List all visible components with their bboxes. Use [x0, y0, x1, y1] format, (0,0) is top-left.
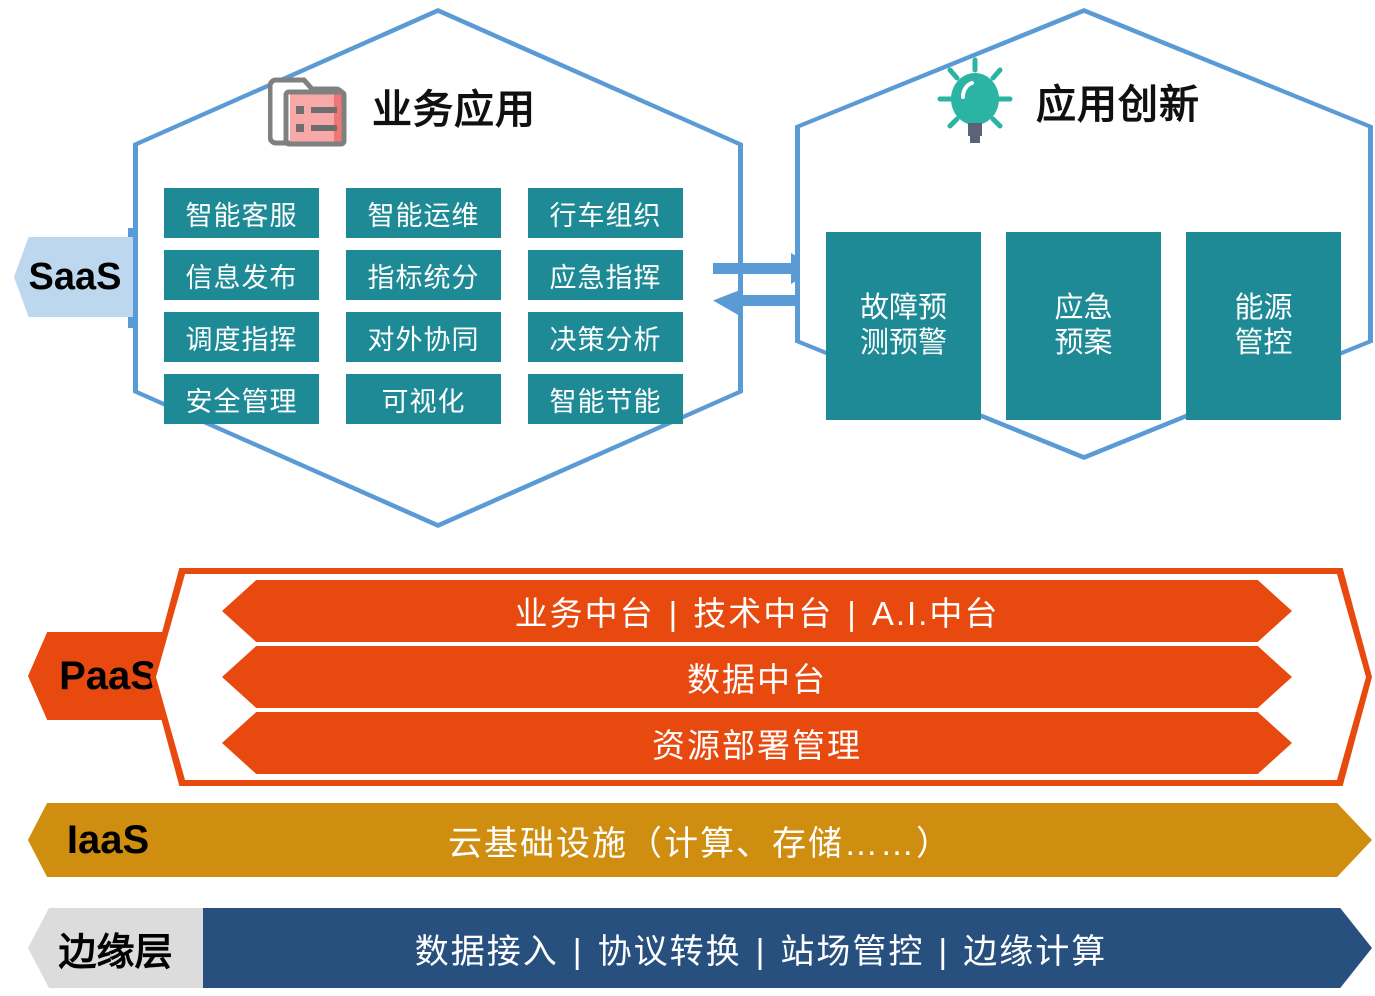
app-tag[interactable]: 智能运维	[346, 188, 501, 238]
app-tag[interactable]: 可视化	[346, 374, 501, 424]
innovation-box-label: 故障预 测预警	[860, 291, 947, 362]
architecture-diagram: SaaS 业务应用 智能客服 智能运维 行车组织 信息发布 指标统分 应急指挥	[0, 0, 1375, 996]
app-tag[interactable]: 信息发布	[164, 250, 319, 300]
app-tag[interactable]: 调度指挥	[164, 312, 319, 362]
edge-side-label: 边缘层	[28, 908, 203, 988]
innovation-box[interactable]: 应急 预案	[1006, 232, 1161, 420]
folder-list-icon	[268, 62, 354, 150]
innovation-box-label: 能源 管控	[1234, 291, 1292, 362]
saas-side-label-text: SaaS	[29, 256, 122, 299]
edge-segment: 站场管控	[780, 933, 924, 971]
paas-row-label: 数据中台	[687, 653, 827, 701]
lightbulb-icon	[932, 55, 1018, 147]
saas-side-label: SaaS	[14, 237, 136, 317]
edge-side-label-text: 边缘层	[58, 921, 172, 976]
paas-side-label-text: PaaS	[59, 654, 157, 699]
edge-bar-label: 数据接入|协议转换|站场管控|边缘计算	[415, 924, 1108, 973]
app-tag[interactable]: 智能节能	[528, 374, 683, 424]
innovation-box-label: 应急 预案	[1054, 291, 1112, 362]
business-application-header: 业务应用	[268, 62, 536, 150]
paas-segment: A.I.中台	[872, 595, 1000, 632]
innovation-box[interactable]: 能源 管控	[1186, 232, 1341, 420]
edge-bar[interactable]: 数据接入|协议转换|站场管控|边缘计算	[150, 908, 1372, 988]
app-tag[interactable]: 智能客服	[164, 188, 319, 238]
business-application-tag-grid: 智能客服 智能运维 行车组织 信息发布 指标统分 应急指挥 调度指挥 对外协同 …	[164, 188, 683, 424]
paas-separator: |	[655, 595, 694, 632]
app-tag[interactable]: 指标统分	[346, 250, 501, 300]
innovation-box-row: 故障预 测预警 应急 预案 能源 管控	[826, 232, 1341, 420]
app-tag[interactable]: 对外协同	[346, 312, 501, 362]
iaas-bar[interactable]: 云基础设施（计算、存储……）	[28, 803, 1372, 877]
application-innovation-header: 应用创新	[932, 55, 1200, 147]
paas-segment: 技术中台	[693, 595, 833, 632]
application-innovation-title: 应用创新	[1036, 72, 1200, 130]
edge-segment: 边缘计算	[963, 933, 1107, 971]
app-tag[interactable]: 决策分析	[528, 312, 683, 362]
iaas-side-label-overlay: IaaS	[28, 803, 188, 877]
iaas-bar-label: 云基础设施（计算、存储……）	[448, 816, 952, 865]
paas-row-label: 业务中台|技术中台|A.I.中台	[515, 587, 1000, 635]
paas-row-label: 资源部署管理	[652, 719, 862, 767]
edge-separator: |	[742, 933, 781, 971]
paas-separator: |	[833, 595, 872, 632]
app-tag[interactable]: 应急指挥	[528, 250, 683, 300]
edge-separator: |	[559, 933, 598, 971]
iaas-side-label-text: IaaS	[67, 818, 149, 863]
innovation-box[interactable]: 故障预 测预警	[826, 232, 981, 420]
app-tag[interactable]: 行车组织	[528, 188, 683, 238]
business-application-title: 业务应用	[372, 77, 536, 135]
paas-segment: 业务中台	[515, 595, 655, 632]
paas-row-data-platform[interactable]: 数据中台	[222, 646, 1292, 708]
edge-segment: 协议转换	[598, 933, 742, 971]
paas-row-resource-deployment[interactable]: 资源部署管理	[222, 712, 1292, 774]
edge-separator: |	[924, 933, 963, 971]
paas-row-middle-platforms[interactable]: 业务中台|技术中台|A.I.中台	[222, 580, 1292, 642]
app-tag[interactable]: 安全管理	[164, 374, 319, 424]
edge-segment: 数据接入	[415, 933, 559, 971]
